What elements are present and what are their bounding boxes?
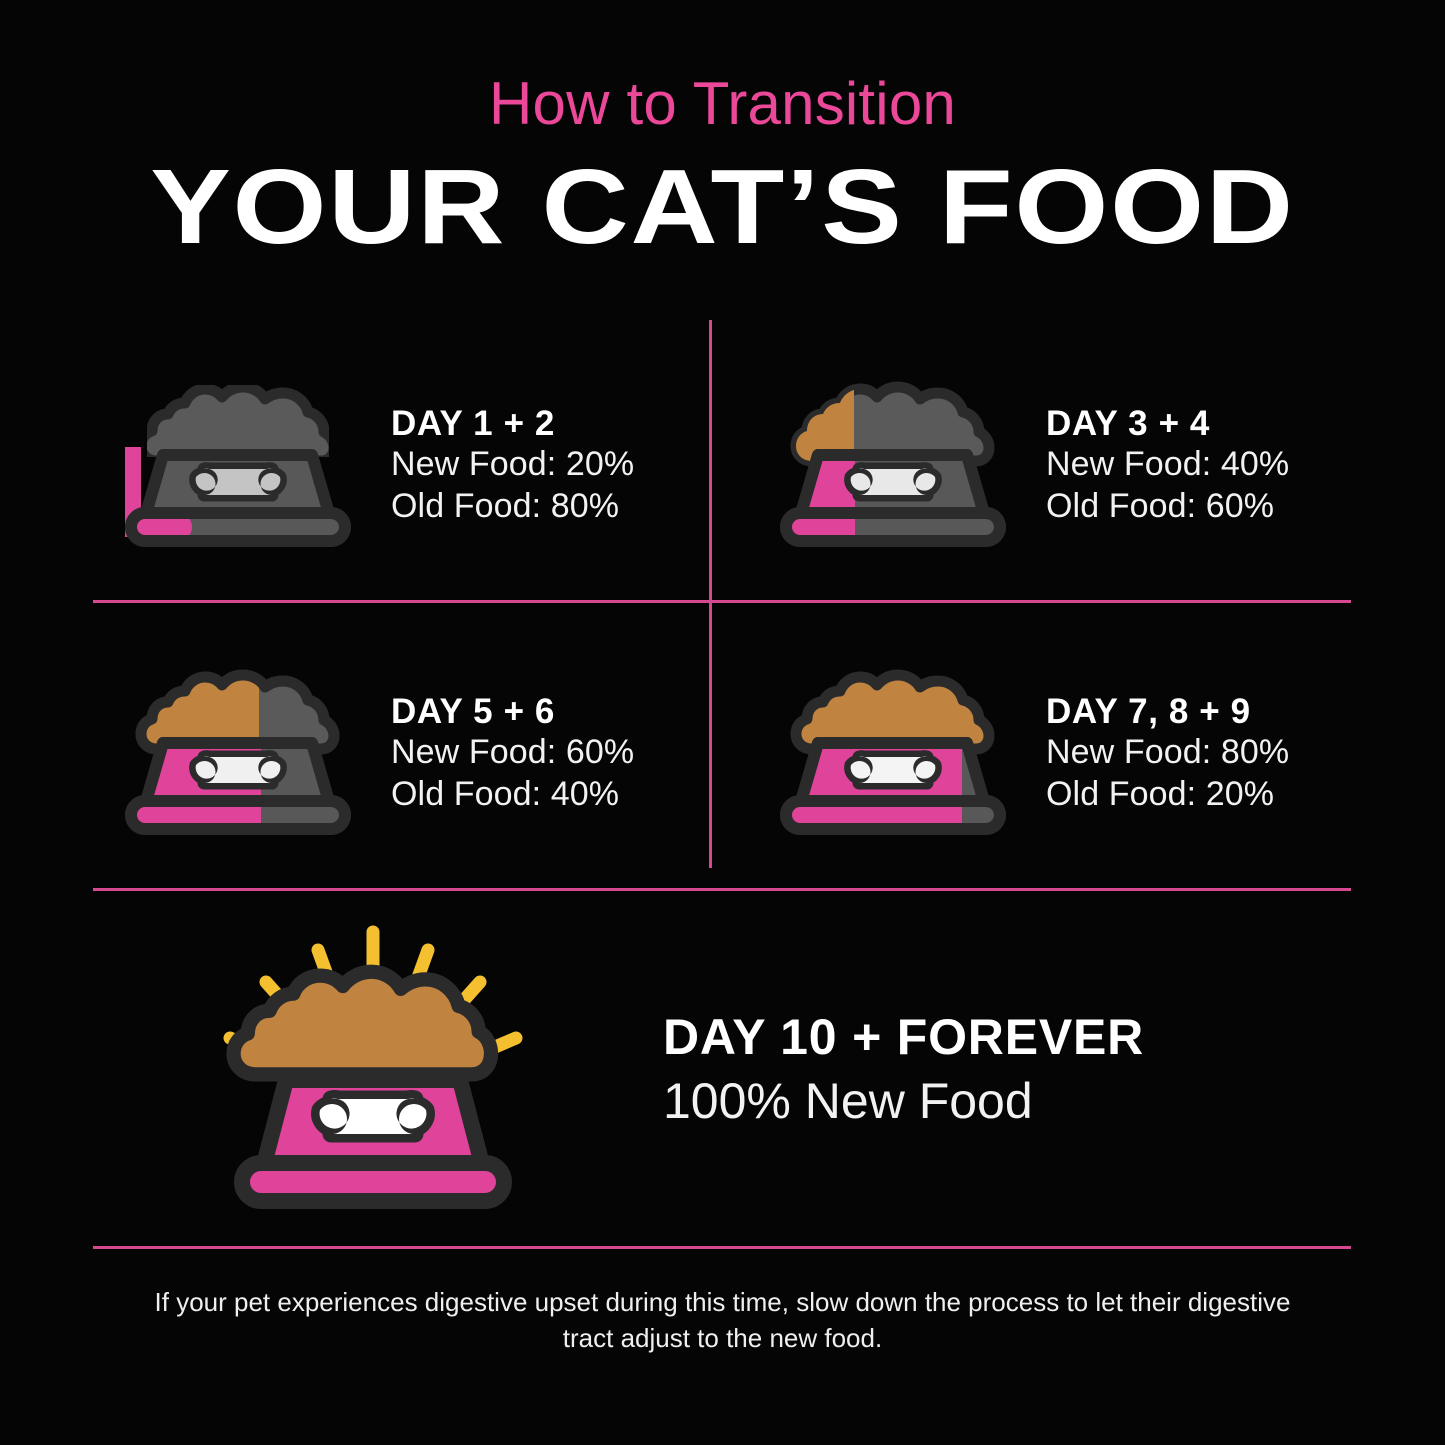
step-info: DAY 1 + 2 New Food: 20% Old Food: 80% <box>383 403 693 527</box>
final-step-info: DAY 10 + FOREVER 100% New Food <box>653 1008 1351 1132</box>
new-food-line: New Food: 60% <box>391 732 693 773</box>
footer-note: If your pet experiences digestive upset … <box>150 1285 1295 1357</box>
final-step-subtitle: 100% New Food <box>663 1071 1351 1132</box>
step-card-day-1-2: DAY 1 + 2 New Food: 20% Old Food: 80% <box>93 345 693 585</box>
bowl-icon-wrapper <box>93 665 383 841</box>
pet-food-bowl-celebration-icon <box>198 920 548 1220</box>
divider-vertical <box>709 320 712 868</box>
step-info: DAY 3 + 4 New Food: 40% Old Food: 60% <box>1038 403 1348 527</box>
pet-food-bowl-icon <box>111 665 365 841</box>
bone-emblem-icon <box>320 1099 427 1134</box>
old-food-line: Old Food: 60% <box>1046 486 1348 527</box>
new-food-line: New Food: 40% <box>1046 444 1348 485</box>
step-card-day-3-4: DAY 3 + 4 New Food: 40% Old Food: 60% <box>748 345 1348 585</box>
step-title: DAY 5 + 6 <box>391 691 693 732</box>
eyebrow-title: How to Transition <box>0 74 1445 134</box>
old-food-line: Old Food: 20% <box>1046 774 1348 815</box>
bone-emblem-icon <box>851 757 936 783</box>
step-info: DAY 5 + 6 New Food: 60% Old Food: 40% <box>383 691 693 815</box>
infographic-page: How to Transition YOUR CAT’S FOOD <box>0 0 1445 1445</box>
old-food-line: Old Food: 80% <box>391 486 693 527</box>
final-step-title: DAY 10 + FOREVER <box>663 1008 1351 1067</box>
bowl-icon-wrapper <box>748 377 1038 553</box>
new-food-line: New Food: 20% <box>391 444 693 485</box>
page-title: YOUR CAT’S FOOD <box>0 154 1445 260</box>
pet-food-bowl-icon <box>766 377 1020 553</box>
divider-horizontal-middle <box>93 888 1351 891</box>
step-title: DAY 1 + 2 <box>391 403 693 444</box>
step-card-day-7-8-9: DAY 7, 8 + 9 New Food: 80% Old Food: 20% <box>748 633 1348 873</box>
step-title: DAY 7, 8 + 9 <box>1046 691 1348 732</box>
final-step-card: DAY 10 + FOREVER 100% New Food <box>93 915 1351 1225</box>
new-food-line: New Food: 80% <box>1046 732 1348 773</box>
pet-food-bowl-icon <box>766 665 1020 841</box>
step-card-day-5-6: DAY 5 + 6 New Food: 60% Old Food: 40% <box>93 633 693 873</box>
bone-emblem-icon <box>196 757 281 783</box>
bone-emblem-icon <box>851 469 936 495</box>
old-food-line: Old Food: 40% <box>391 774 693 815</box>
step-title: DAY 3 + 4 <box>1046 403 1348 444</box>
header: How to Transition YOUR CAT’S FOOD <box>0 74 1445 260</box>
divider-horizontal-bottom <box>93 1246 1351 1249</box>
hero-bowl-wrapper <box>93 920 653 1220</box>
pet-food-bowl-icon <box>111 377 365 553</box>
divider-horizontal-top <box>93 600 1351 603</box>
bowl-icon-wrapper <box>748 665 1038 841</box>
step-info: DAY 7, 8 + 9 New Food: 80% Old Food: 20% <box>1038 691 1348 815</box>
bowl-icon-wrapper <box>93 377 383 553</box>
bone-emblem-icon <box>196 469 281 495</box>
